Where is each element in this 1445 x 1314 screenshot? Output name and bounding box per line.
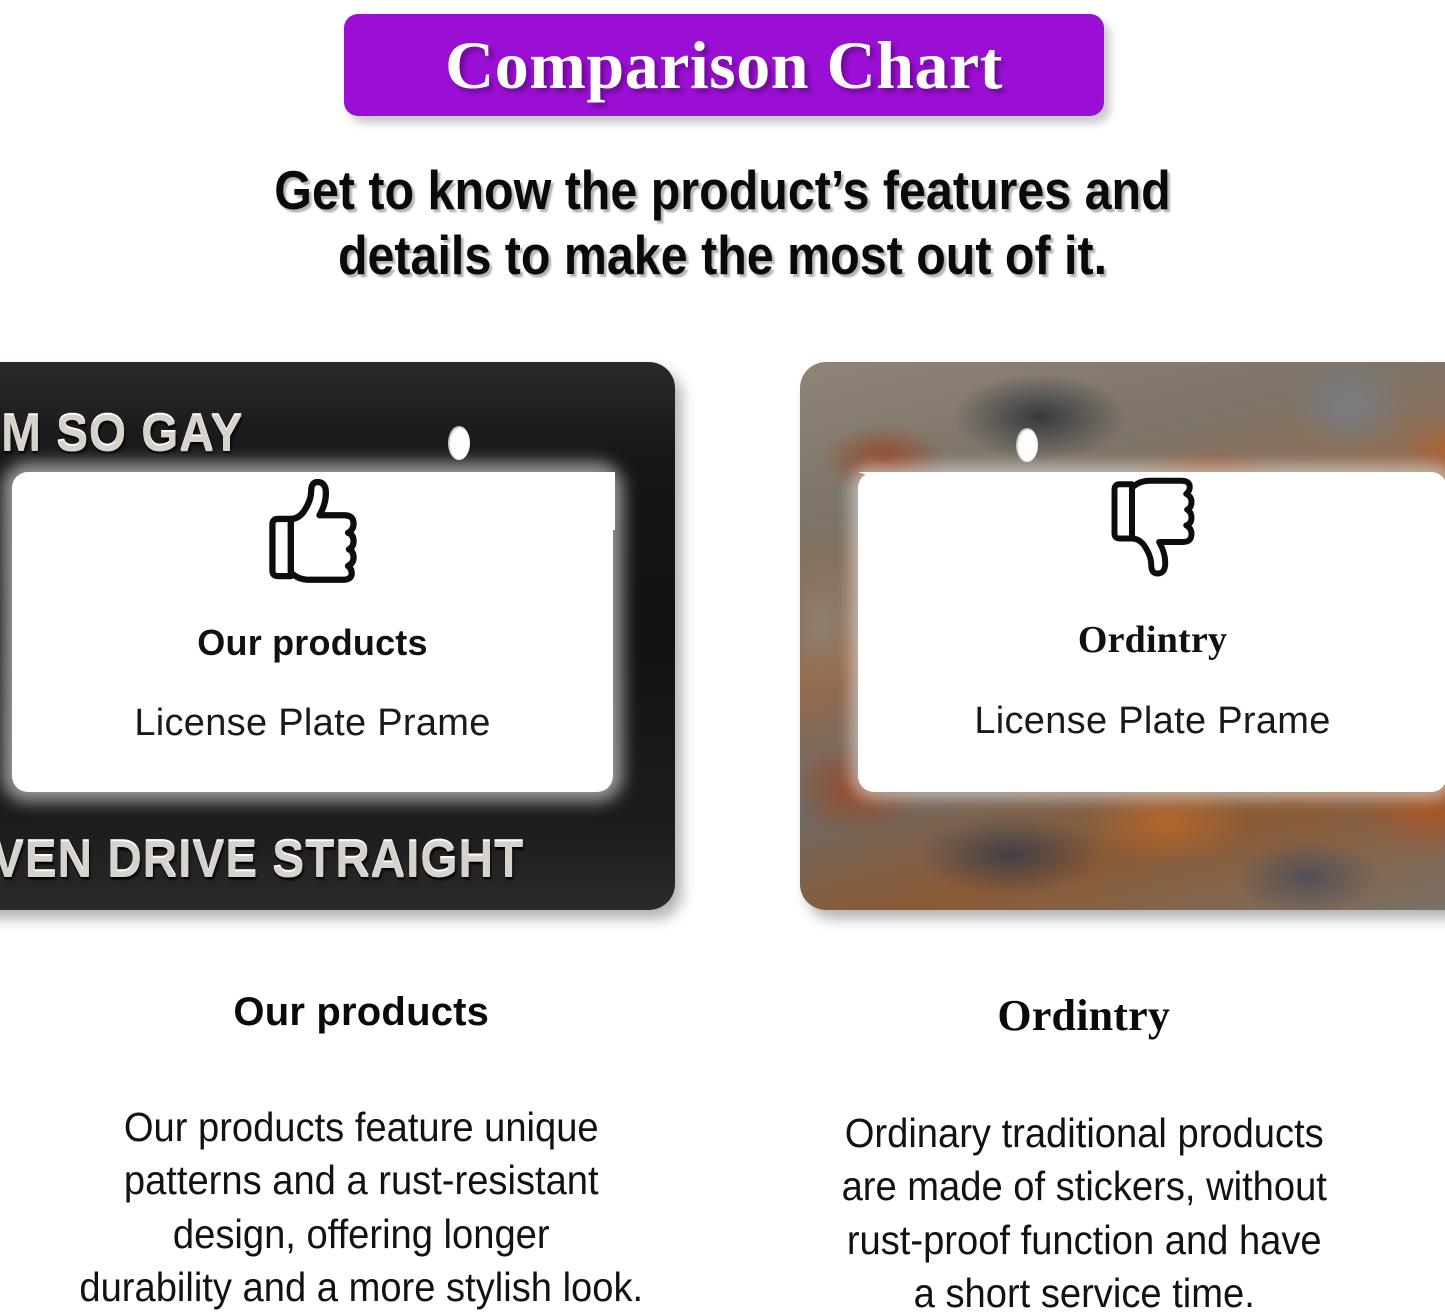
screw-hole-icon	[448, 426, 470, 460]
product-comparison-images: M SO GAY VEN DRIVE STRAIGHT Our products…	[0, 348, 1445, 928]
our-product-description-column: Our products Our products feature unique…	[0, 990, 723, 1314]
plate-bottom-embossed-text: VEN DRIVE STRAIGHT	[0, 830, 646, 890]
our-product-product-label: License Plate Prame	[134, 702, 490, 745]
title-banner-background: Comparison Chart	[344, 14, 1104, 116]
ordinary-product-description-text: Ordinary traditional products are made o…	[772, 1107, 1396, 1314]
our-product-brand-label: Our products	[197, 622, 427, 664]
ordinary-product-description-column: Ordintry Ordinary traditional products a…	[723, 990, 1445, 1314]
title-banner: Comparison Chart	[344, 14, 1104, 116]
ordinary-product-plate-content: Ordintry License Plate Prame	[800, 474, 1445, 743]
thumbs-down-icon	[1097, 474, 1209, 582]
ordinary-product-product-label: License Plate Prame	[974, 700, 1330, 743]
screw-hole-icon	[1016, 428, 1038, 462]
plate-top-embossed-text: M SO GAY	[0, 404, 646, 464]
thumbs-up-icon	[254, 474, 372, 586]
comparison-description-columns: Our products Our products feature unique…	[0, 990, 1445, 1314]
ordinary-product-brand-label: Ordintry	[1078, 618, 1227, 662]
our-product-description-text: Our products feature unique patterns and…	[49, 1101, 673, 1314]
page-title: Comparison Chart	[445, 31, 1003, 99]
our-product-column-title: Our products	[26, 990, 697, 1035]
page-subtitle: Get to know the product’s features and d…	[87, 158, 1359, 288]
ordinary-product-column-title: Ordintry	[749, 990, 1420, 1041]
our-product-plate-content: Our products License Plate Prame	[0, 474, 675, 745]
